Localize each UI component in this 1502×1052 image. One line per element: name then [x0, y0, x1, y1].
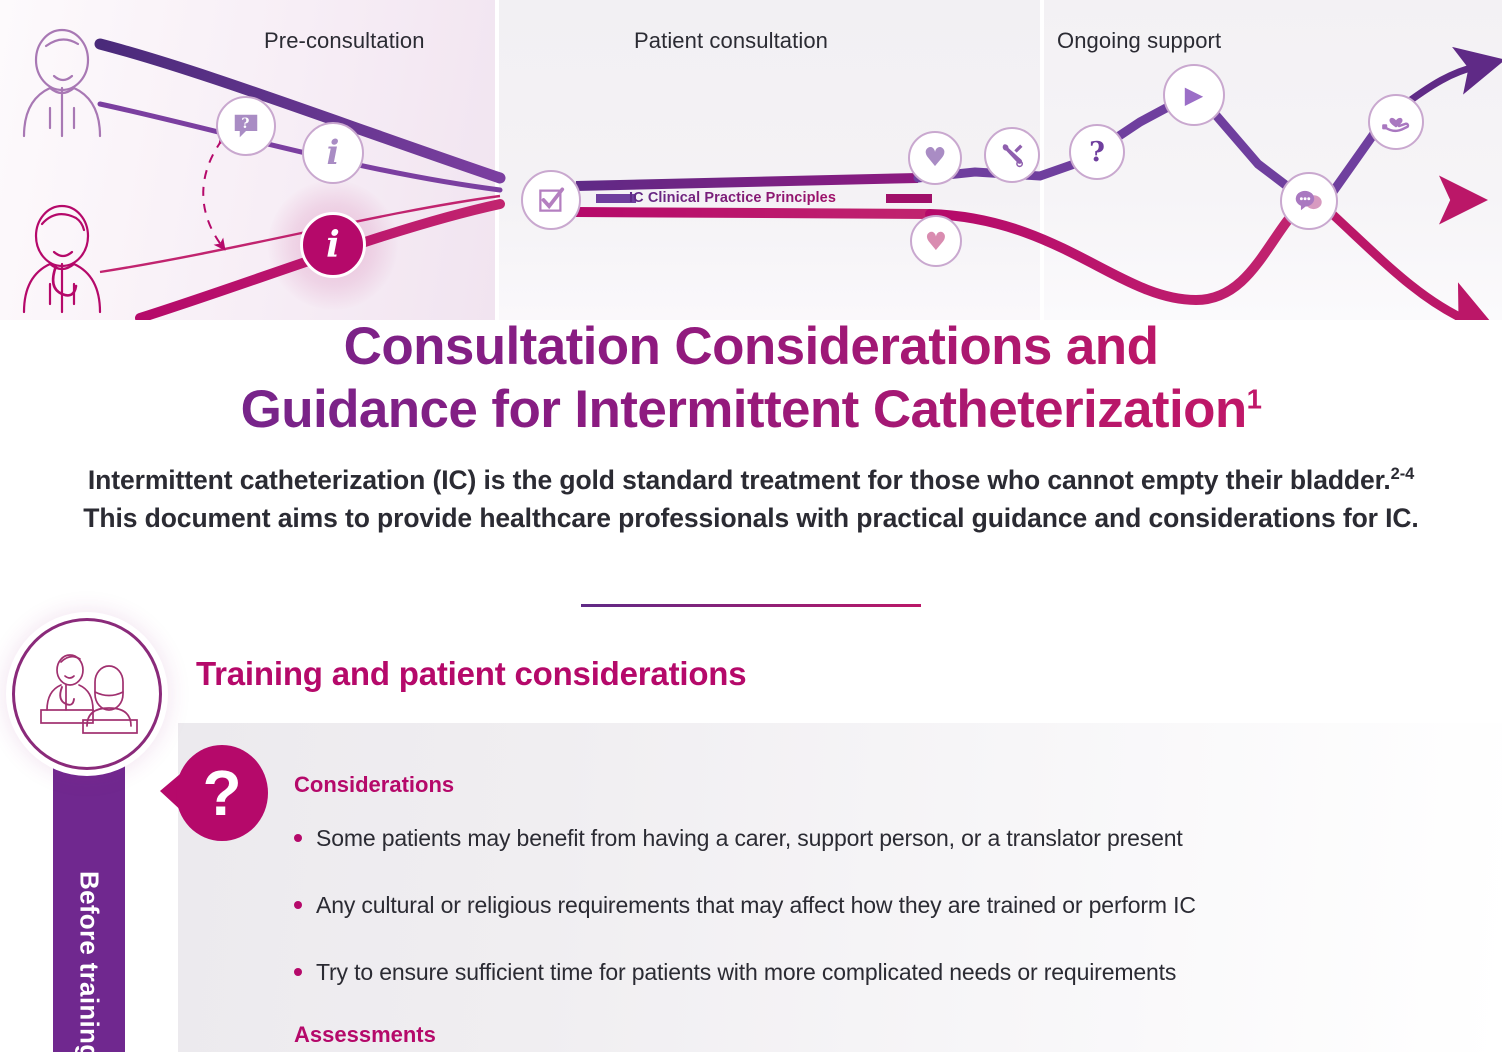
checkbox-glyph	[536, 185, 566, 215]
hand-heart-glyph	[1381, 109, 1411, 135]
subtitle-superscript: 2-4	[1391, 465, 1414, 483]
page-title: Consultation Considerations and Guidance…	[50, 316, 1452, 441]
patient-figure-icon	[24, 30, 100, 136]
heart-pink-icon[interactable]: ♥	[910, 215, 962, 267]
list-item: Some patients may benefit from having a …	[294, 824, 1474, 854]
section-heading: Training and patient considerations	[196, 655, 746, 693]
clinician-and-patient-at-desk-icon	[12, 618, 162, 770]
bullet-dot-icon	[294, 834, 302, 842]
info-circle-icon[interactable]: i	[302, 122, 364, 184]
considerations-bullet-list: Some patients may benefit from having a …	[294, 824, 1474, 1025]
assessments-heading: Assessments	[294, 1022, 436, 1048]
page-subtitle: Intermittent catheterization (IC) is the…	[60, 462, 1442, 537]
question-bubble-glyph: ?	[160, 739, 278, 851]
hand-holding-heart-icon[interactable]	[1368, 94, 1424, 150]
play-button-icon[interactable]: ▶	[1163, 64, 1225, 126]
infographic-page: Pre-consultation Patient consultation On…	[0, 0, 1502, 1052]
heart-icon[interactable]: ♥	[908, 131, 962, 185]
ic-clinical-practice-principles-label: IC Clinical Practice Principles	[629, 190, 836, 206]
desk-consultation-glyph	[35, 648, 139, 740]
list-item: Try to ensure sufficient time for patien…	[294, 958, 1474, 988]
wrench-glyph	[998, 141, 1026, 169]
chat-bubbles-icon[interactable]	[1280, 172, 1338, 230]
tools-wrench-icon[interactable]	[984, 127, 1040, 183]
list-item: Any cultural or religious requirements t…	[294, 891, 1474, 921]
stage-sidebar-bar	[53, 759, 125, 1052]
bullet-dot-icon	[294, 968, 302, 976]
question-mark-bubble-icon[interactable]: ?	[160, 739, 278, 851]
page-title-superscript: 1	[1247, 383, 1262, 414]
checkbox-tick-icon[interactable]	[521, 170, 581, 230]
subtitle-part2: This document aims to provide healthcare…	[83, 503, 1418, 533]
list-item-label: Any cultural or religious requirements t…	[316, 891, 1196, 921]
list-item-label: Some patients may benefit from having a …	[316, 824, 1183, 854]
svg-text:?: ?	[202, 757, 241, 829]
section-divider	[581, 604, 921, 607]
speech-bubble-glyph: ?	[231, 111, 261, 141]
question-mark-icon[interactable]: ?	[1069, 124, 1125, 180]
page-title-line2: Guidance for Intermittent Catheterizatio…	[241, 380, 1247, 439]
svg-text:?: ?	[241, 116, 249, 132]
patient-journey-banner: Pre-consultation Patient consultation On…	[0, 0, 1502, 320]
subtitle-part1: Intermittent catheterization (IC) is the…	[88, 465, 1391, 495]
question-speech-bubble-icon[interactable]: ?	[216, 96, 276, 156]
info-circle-filled-icon[interactable]: i	[300, 212, 366, 278]
considerations-heading: Considerations	[294, 772, 454, 798]
clinician-figure-icon	[24, 206, 100, 312]
bullet-dot-icon	[294, 901, 302, 909]
chat-bubbles-glyph	[1294, 188, 1324, 214]
list-item-label: Try to ensure sufficient time for patien…	[316, 958, 1176, 988]
page-title-line1: Consultation Considerations and	[344, 317, 1159, 376]
journey-paths	[0, 0, 1502, 320]
